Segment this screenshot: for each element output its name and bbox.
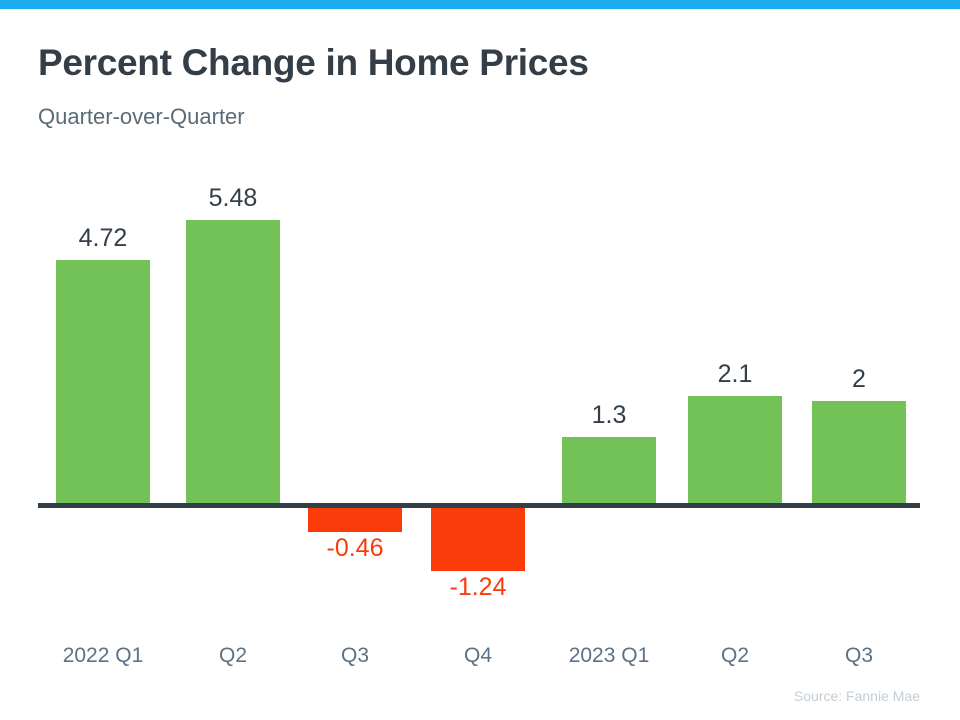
bar-chart-plot-area: 4.72 5.48 -0.46 -1.24 1.3 2.1 2 2022 Q1 … bbox=[0, 0, 960, 720]
source-attribution: Source: Fannie Mae bbox=[794, 688, 920, 704]
bar-2022-q3[interactable] bbox=[308, 507, 402, 532]
x-axis-tick-2022-q2: Q2 bbox=[176, 644, 290, 668]
bar-2023-q3[interactable] bbox=[812, 401, 906, 505]
bar-value-label-2023-q3: 2 bbox=[812, 365, 906, 394]
bar-value-label-2022-q2: 5.48 bbox=[186, 184, 280, 213]
bar-2022-q1[interactable] bbox=[56, 260, 150, 505]
x-axis-tick-2023-q1: 2023 Q1 bbox=[552, 644, 666, 668]
x-axis-tick-2023-q3: Q3 bbox=[802, 644, 916, 668]
bar-2023-q1[interactable] bbox=[562, 437, 656, 505]
bar-2023-q2[interactable] bbox=[688, 396, 782, 505]
bar-value-label-2022-q4: -1.24 bbox=[431, 573, 525, 602]
bar-value-label-2023-q1: 1.3 bbox=[562, 401, 656, 430]
x-axis-tick-2022-q3: Q3 bbox=[298, 644, 412, 668]
bar-value-label-2022-q3: -0.46 bbox=[308, 534, 402, 563]
bar-value-label-2023-q2: 2.1 bbox=[688, 360, 782, 389]
zero-axis-line bbox=[38, 503, 920, 508]
bar-2022-q4[interactable] bbox=[431, 507, 525, 571]
bar-value-label-2022-q1: 4.72 bbox=[56, 224, 150, 253]
bar-2022-q2[interactable] bbox=[186, 220, 280, 505]
x-axis-tick-2022-q4: Q4 bbox=[421, 644, 535, 668]
chart-page: Percent Change in Home Prices Quarter-ov… bbox=[0, 0, 960, 720]
x-axis-tick-2022-q1: 2022 Q1 bbox=[46, 644, 160, 668]
x-axis-tick-2023-q2: Q2 bbox=[678, 644, 792, 668]
